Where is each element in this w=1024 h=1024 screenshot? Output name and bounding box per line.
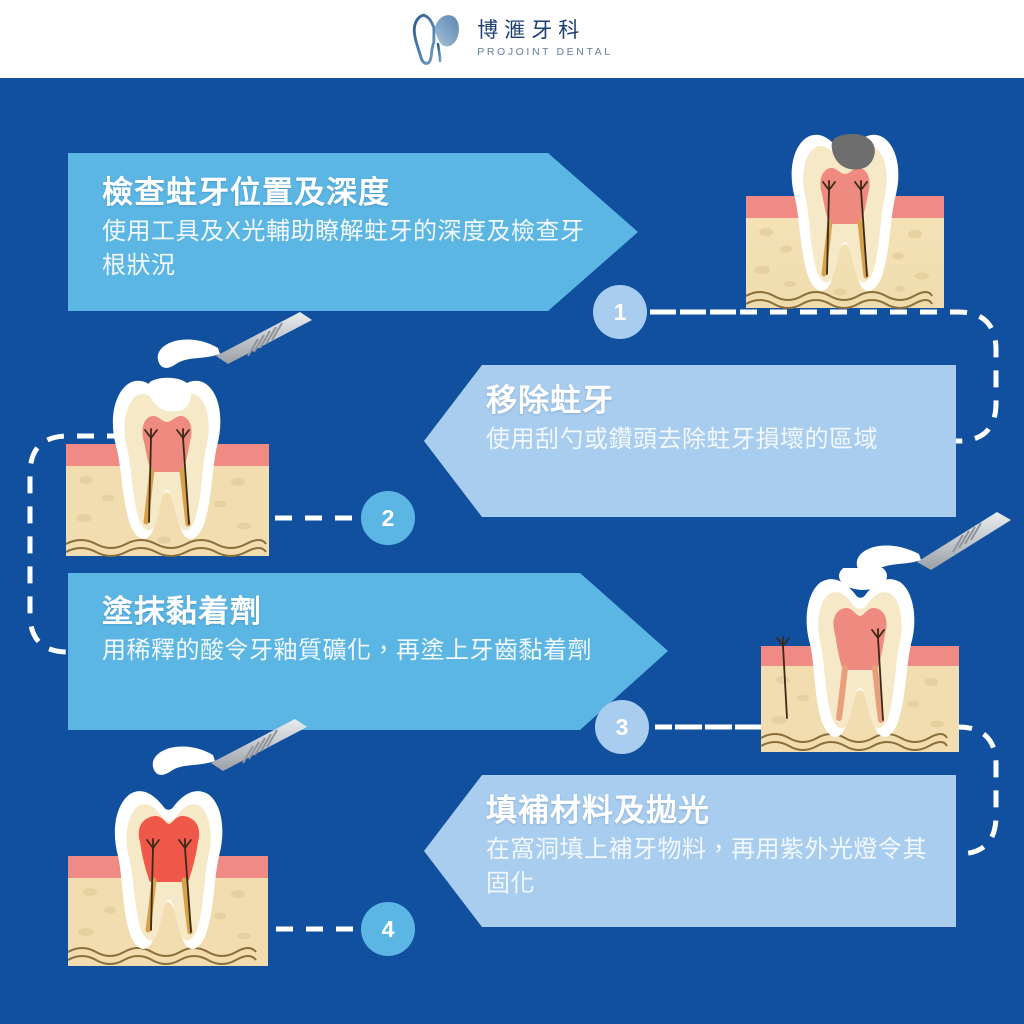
dental-applicator-tool-icon-step-3 (845, 508, 1015, 588)
header-bar: 博滙牙科 PROJOINT DENTAL (0, 0, 1024, 78)
step-4-title: 填補材料及拋光 (486, 793, 936, 830)
step-number-badge-4[interactable]: 4 (361, 902, 415, 956)
step-1-body: 使用工具及X光輔助瞭解蛀牙的深度及檢查牙根狀況 (102, 214, 602, 282)
infographic-page: 博滙牙科 PROJOINT DENTAL (0, 0, 1024, 1024)
tooth-logo-icon (411, 12, 463, 66)
tooth-illustration-step-2 (60, 368, 275, 563)
brand-name-en: PROJOINT DENTAL (477, 47, 612, 58)
step-banner-1: 檢查蛀牙位置及深度 使用工具及X光輔助瞭解蛀牙的深度及檢查牙根狀況 (68, 153, 638, 311)
step-2-text-block: 移除蛀牙 使用刮勺或鑽頭去除蛀牙損壞的區域 (486, 383, 936, 456)
dental-curing-light-tool-icon-step-4 (145, 713, 310, 785)
step-number-4: 4 (382, 916, 395, 943)
step-4-text-block: 填補材料及拋光 在窩洞填上補牙物料，再用紫外光燈令其固化 (486, 793, 936, 900)
infographic-canvas: 檢查蛀牙位置及深度 使用工具及X光輔助瞭解蛀牙的深度及檢查牙根狀況 移除蛀牙 使… (0, 78, 1024, 1024)
step-banner-4: 填補材料及拋光 在窩洞填上補牙物料，再用紫外光燈令其固化 (424, 775, 956, 927)
step-banner-3: 塗抹黏着劑 用稀釋的酸令牙釉質礦化，再塗上牙齒黏着劑 (68, 573, 668, 730)
brand-name-cn: 博滙牙科 (477, 20, 612, 41)
dental-probe-tool-icon-step-1 (150, 306, 315, 376)
step-banner-2: 移除蛀牙 使用刮勺或鑽頭去除蛀牙損壞的區域 (424, 365, 956, 517)
tooth-illustration-step-1 (740, 124, 950, 314)
step-3-title: 塗抹黏着劑 (102, 594, 622, 631)
step-2-title: 移除蛀牙 (486, 383, 936, 420)
step-3-text-block: 塗抹黏着劑 用稀釋的酸令牙釉質礦化，再塗上牙齒黏着劑 (102, 594, 622, 667)
step-3-body: 用稀釋的酸令牙釉質礦化，再塗上牙齒黏着劑 (102, 633, 622, 667)
step-1-text-block: 檢查蛀牙位置及深度 使用工具及X光輔助瞭解蛀牙的深度及檢查牙根狀況 (102, 175, 602, 282)
tooth-illustration-step-3 (755, 568, 965, 758)
step-number-badge-1[interactable]: 1 (593, 285, 647, 339)
step-number-badge-3[interactable]: 3 (595, 700, 649, 754)
step-2-body: 使用刮勺或鑽頭去除蛀牙損壞的區域 (486, 422, 936, 456)
step-number-badge-2[interactable]: 2 (361, 491, 415, 545)
step-1-title: 檢查蛀牙位置及深度 (102, 175, 602, 212)
brand-text: 博滙牙科 PROJOINT DENTAL (477, 20, 612, 58)
tooth-illustration-step-4 (62, 778, 274, 970)
step-4-body: 在窩洞填上補牙物料，再用紫外光燈令其固化 (486, 832, 936, 900)
filling-material (139, 816, 199, 882)
step-number-3: 3 (616, 714, 629, 741)
step-number-2: 2 (382, 505, 395, 532)
step-number-1: 1 (614, 299, 627, 326)
brand-lockup: 博滙牙科 PROJOINT DENTAL (411, 12, 612, 66)
